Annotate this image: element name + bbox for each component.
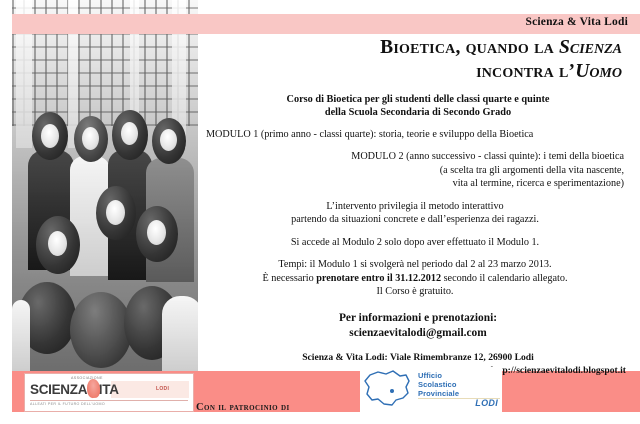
poster-content: Bioetica, quando la Scienza incontra l’U… — [206, 36, 630, 378]
module-2-line-3: vita al termine, ricerca e sperimentazio… — [206, 177, 624, 190]
contact-label: Per informazioni e prenotazioni: — [206, 311, 630, 326]
title-line2-pre: incontra l’ — [476, 61, 575, 82]
photo-person — [70, 292, 132, 368]
contact-email[interactable]: scienzaevitalodi@gmail.com — [206, 326, 630, 341]
patronage-label: Con il patrocinio di — [196, 402, 290, 413]
course-subtitle: Corso di Bioetica per gli studenti delle… — [206, 93, 630, 119]
schedule-line-3: Il Corso è gratuito. — [206, 285, 624, 298]
logo-divider — [30, 400, 188, 401]
method-line-2: partendo da situazioni concrete e dall’e… — [206, 213, 624, 226]
usp-line-2: Scolastico — [418, 380, 457, 389]
students-photo — [12, 0, 198, 371]
organization-name: Scienza & Vita Lodi — [525, 16, 628, 28]
photo-content — [12, 0, 198, 371]
ufficio-scolastico-logo: Ufficio Scolastico Provinciale LODI — [360, 367, 502, 412]
module-2-line-1: MODULO 2 (anno successivo - classi quint… — [206, 150, 624, 163]
logo-wordmark: SCIENZA VITA — [30, 382, 119, 397]
usp-line-3: Provinciale — [418, 389, 459, 398]
logo-association-label: ASSOCIAZIONE — [71, 376, 103, 380]
scienza-vita-logo: ASSOCIAZIONE SCIENZA VITA LODI ALLEATI P… — [24, 373, 194, 412]
logo-city-label: LODI — [156, 386, 169, 392]
photo-person — [106, 200, 125, 225]
logo-tint-block — [111, 381, 189, 398]
module-2-description: MODULO 2 (anno successivo - classi quint… — [206, 150, 630, 190]
booking-deadline: prenotare entro il 31.12.2012 — [316, 273, 441, 284]
title-line2-emphasis: Uomo — [575, 61, 622, 82]
address-line: Scienza & Vita Lodi: Viale Rimembranze 1… — [206, 352, 630, 365]
photo-person — [160, 129, 177, 151]
schedule-line-1: Tempi: il Modulo 1 si svolgerà nel perio… — [206, 258, 624, 271]
lombardy-map-icon — [362, 369, 414, 409]
usp-city-label: LODI — [475, 398, 498, 408]
photo-person — [147, 220, 166, 245]
photo-person — [12, 300, 30, 371]
contact-block: Per informazioni e prenotazioni: scienza… — [206, 311, 630, 341]
poster-root: Scienza & Vita Lodi Bioetica, quando la … — [0, 0, 640, 424]
prerequisite-note: Si accede al Modulo 2 solo dopo aver eff… — [206, 236, 630, 249]
photo-person — [162, 296, 198, 371]
usp-line-1: Ufficio — [418, 371, 442, 380]
schedule-line-2-pre: È necessario — [263, 273, 317, 284]
schedule-line-2-post: secondo il calendario allegato. — [441, 273, 567, 284]
title-line1-pre: Bioetica, quando la — [380, 37, 559, 58]
page-title: Bioetica, quando la Scienza incontra l’U… — [206, 36, 630, 84]
photo-person — [82, 127, 99, 150]
module-1-description: MODULO 1 (primo anno - classi quarte): s… — [206, 128, 630, 141]
schedule-line-2: È necessario prenotare entro il 31.12.20… — [206, 272, 624, 285]
subtitle-line-2: della Scuola Secondaria di Secondo Grado — [210, 106, 626, 119]
module-2-line-2: (a scelta tra gli argomenti della vita n… — [206, 164, 624, 177]
logo-tagline: ALLEATI PER IL FUTURO DELL'UOMO — [30, 402, 105, 406]
subtitle-line-1: Corso di Bioetica per gli studenti delle… — [210, 93, 626, 106]
schedule-info: Tempi: il Modulo 1 si svolgerà nel perio… — [206, 258, 630, 298]
photo-person — [121, 122, 138, 145]
method-description: L’intervento privilegia il metodo intera… — [206, 200, 630, 227]
photo-person — [41, 124, 59, 148]
photo-person — [48, 231, 67, 256]
title-line1-emphasis: Scienza — [559, 37, 622, 58]
method-line-1: L’intervento privilegia il metodo intera… — [206, 200, 624, 213]
